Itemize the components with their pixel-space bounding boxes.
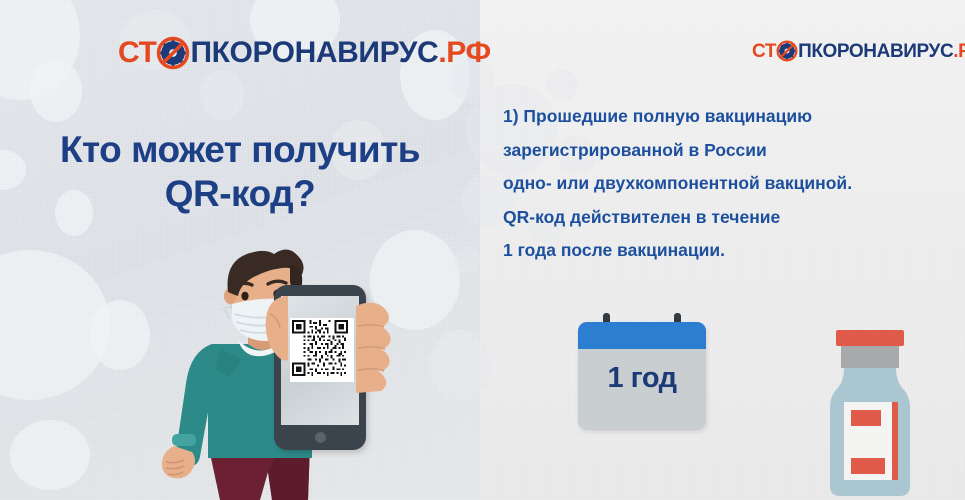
calendar-header [578,322,706,349]
vaccine-vial-icon [822,330,918,500]
calendar-label: 1 год [578,362,706,395]
logo-prefix-right: СТ [752,42,776,61]
calendar-icon: 1 год [578,322,706,430]
paragraph-line-2: зарегистрированной в России [503,142,923,160]
logo-prefix-left: СТ [118,38,156,68]
headline-line-1: Кто может получить [60,129,420,170]
phone-home-button [315,432,326,443]
logo-main-right: ПКОРОНАВИРУС [798,42,953,61]
virus-stop-icon [776,40,798,62]
poster-root: СТ ПКОРОНАВИРУС .РФ СТ [0,0,965,500]
logo-stopkoronavirus-right[interactable]: СТ ПКОРОНАВИРУС .РФ [752,40,965,62]
calendar-body: 1 год [578,322,706,430]
page-title: Кто может получить QR-код? [0,128,480,215]
info-paragraph: 1) Прошедшие полную вакцинацию зарегистр… [503,108,923,276]
logo-suffix-right: .РФ [953,42,965,61]
logo-suffix-left: .РФ [438,38,490,68]
thumb [262,296,288,371]
paragraph-line-5: 1 года после вакцинации. [503,242,923,260]
paragraph-line-4: QR-код действителен в течение [503,209,923,227]
logo-stopkoronavirus-left[interactable]: СТ ПКОРОНАВИРУС .РФ [118,36,491,70]
qr-code [290,318,354,382]
virus-stop-icon [156,36,190,70]
phone-screen [281,296,359,425]
headline-line-2: QR-код? [0,172,480,216]
paragraph-line-1: 1) Прошедшие полную вакцинацию [503,108,923,126]
paragraph-line-3: одно- или двухкомпонентной вакциной. [503,175,923,193]
logo-main-left: ПКОРОНАВИРУС [190,38,438,68]
right-hand-fingers [356,300,400,415]
